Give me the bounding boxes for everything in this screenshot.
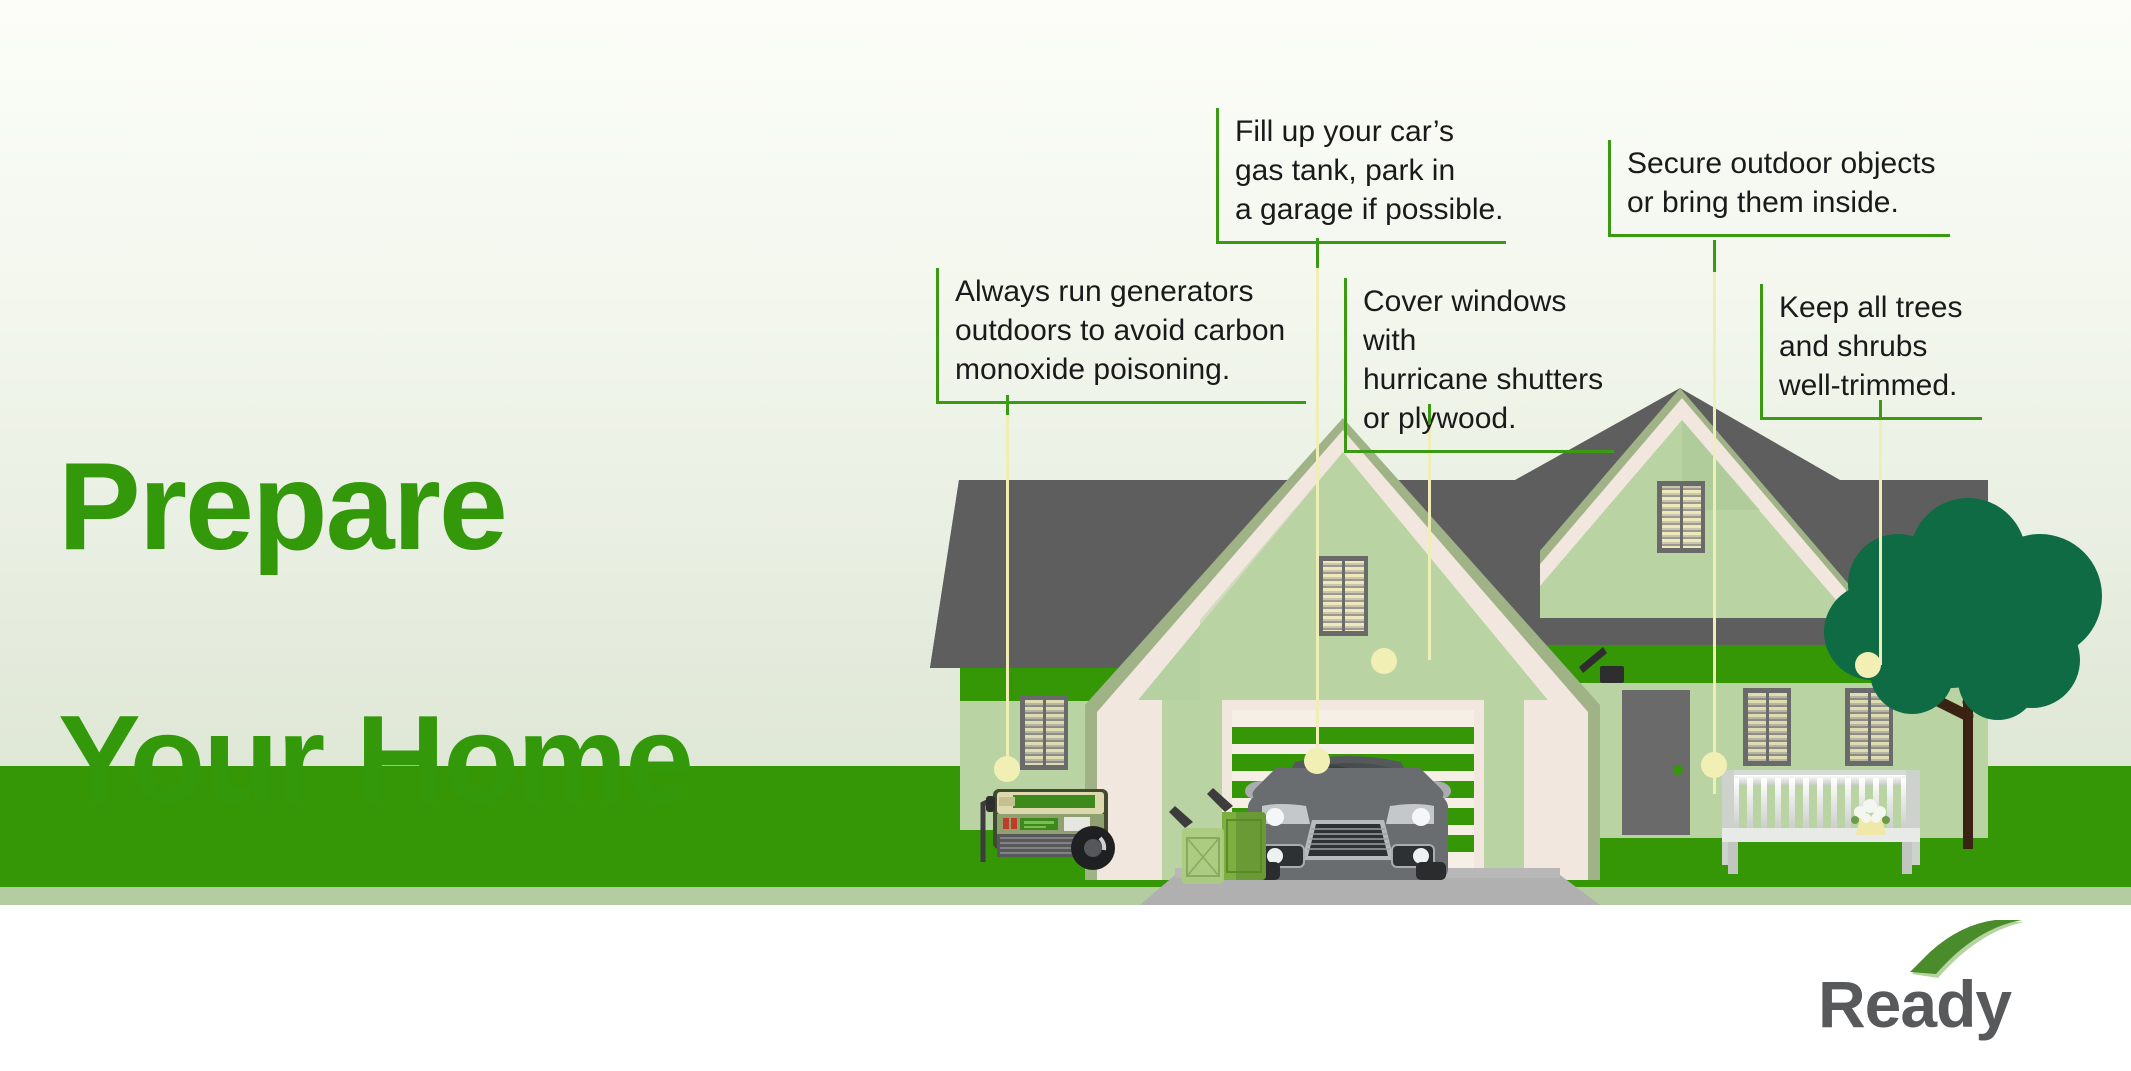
page-title-line2: Your Home [58,691,692,829]
pointer-dot-trees [1855,652,1881,678]
leader-windows [1428,404,1431,424]
pointer-line-trees [1879,415,1882,665]
callout-trees-text: Keep all trees and shrubs well-trimmed. [1779,288,1982,405]
pointer-dot-outdoor-objects [1701,752,1727,778]
callout-car-gas[interactable]: Fill up your car’s gas tank, park in a g… [1216,108,1506,244]
page-title-line1: Prepare [58,438,506,576]
pointer-line-windows [1428,420,1431,660]
pointer-dot-windows [1371,648,1397,674]
leader-generator [1006,395,1009,415]
callout-windows-text: Cover windows with hurricane shutters or… [1363,282,1614,438]
pointer-line-outdoor-objects [1713,270,1716,794]
callout-outdoor-objects-text: Secure outdoor objects or bring them ins… [1627,144,1950,222]
pointer-dot-car-gas [1304,748,1330,774]
callout-outdoor-objects[interactable]: Secure outdoor objects or bring them ins… [1608,140,1950,237]
page-title: Prepare Your Home [58,318,692,824]
callout-generator-text: Always run generators outdoors to avoid … [955,272,1306,389]
callout-windows[interactable]: Cover windows with hurricane shutters or… [1344,278,1614,453]
pointer-dot-generator [994,756,1020,782]
callout-generator[interactable]: Always run generators outdoors to avoid … [936,268,1306,404]
ready-logo[interactable]: Ready [1818,920,2048,1040]
leader-car-gas [1316,238,1319,268]
pointer-line-car-gas [1316,264,1319,748]
leader-trees [1879,400,1882,418]
infographic-canvas: Always run generators outdoors to avoid … [0,0,2131,1071]
callout-trees[interactable]: Keep all trees and shrubs well-trimmed. [1760,284,1982,420]
callout-car-gas-text: Fill up your car’s gas tank, park in a g… [1235,112,1506,229]
ready-wordmark: Ready [1818,966,2011,1042]
pointer-line-generator [1006,410,1009,756]
leader-outdoor-objects [1713,240,1716,272]
